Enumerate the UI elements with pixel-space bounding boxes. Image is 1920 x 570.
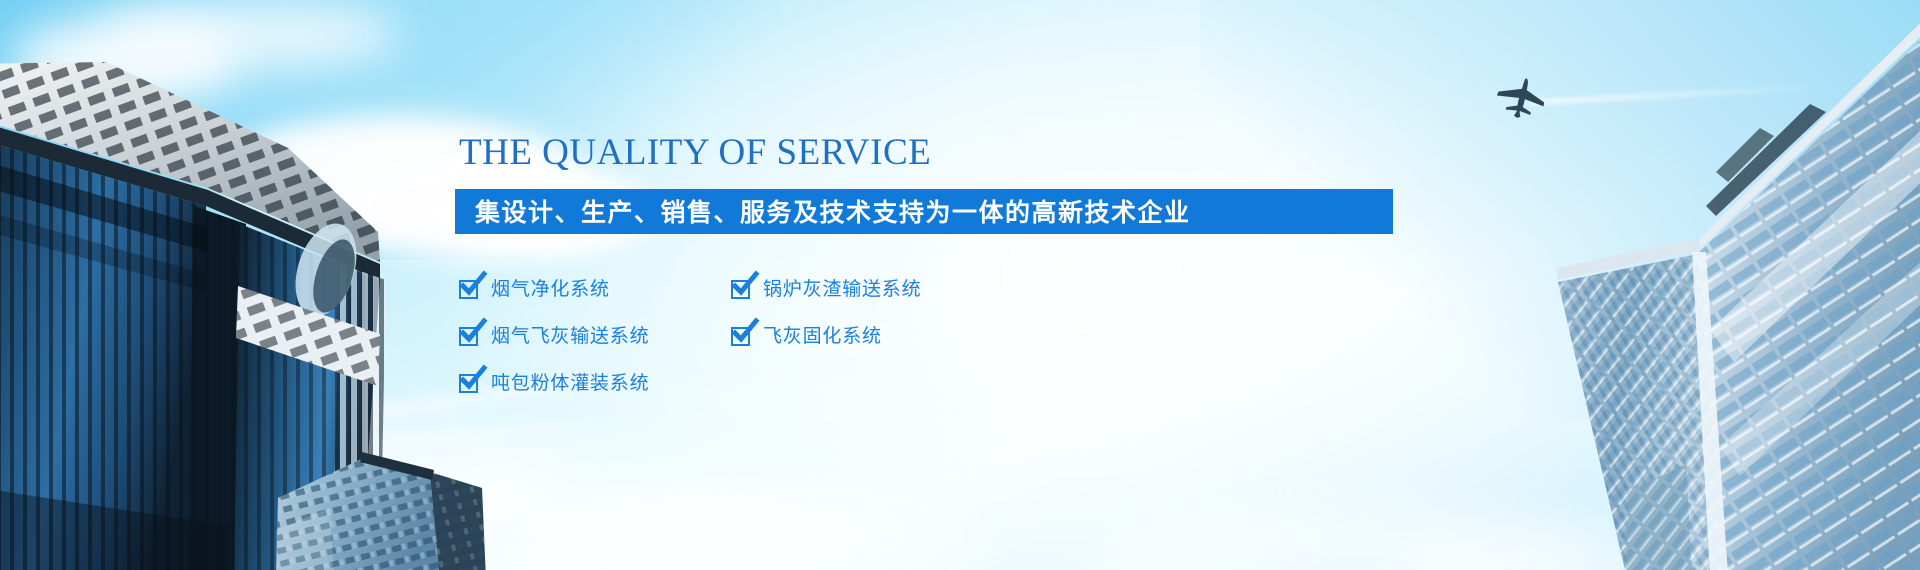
banner-content: THE QUALITY OF SERVICE 集设计、生产、销售、服务及技术支持…	[455, 132, 1415, 407]
feature-item[interactable]: 锅炉灰渣输送系统	[731, 266, 1003, 313]
feature-item[interactable]: 吨包粉体灌装系统	[459, 360, 731, 407]
feature-label: 锅炉灰渣输送系统	[763, 280, 921, 299]
feature-item[interactable]: 飞灰固化系统	[731, 313, 1003, 360]
checkbox-checked-icon	[459, 374, 478, 393]
hero-banner: THE QUALITY OF SERVICE 集设计、生产、销售、服务及技术支持…	[0, 0, 1920, 570]
right-building	[1510, 0, 1920, 570]
tagline-text: 集设计、生产、销售、服务及技术支持为一体的高新技术企业	[475, 193, 1191, 229]
feature-item[interactable]: 烟气飞灰输送系统	[459, 313, 731, 360]
checkbox-checked-icon	[731, 280, 750, 299]
checkbox-checked-icon	[731, 327, 750, 346]
checkbox-checked-icon	[459, 280, 478, 299]
feature-label: 飞灰固化系统	[763, 327, 882, 346]
feature-list: 烟气净化系统 锅炉灰渣输送系统 烟气飞灰输送系统 飞灰固化系统	[455, 266, 1415, 407]
checkbox-checked-icon	[459, 327, 478, 346]
feature-label: 吨包粉体灌装系统	[491, 374, 649, 393]
feature-label: 烟气净化系统	[491, 280, 610, 299]
feature-item[interactable]: 烟气净化系统	[459, 266, 731, 313]
left-building-secondary	[250, 380, 570, 570]
feature-label: 烟气飞灰输送系统	[491, 327, 649, 346]
page-title: THE QUALITY OF SERVICE	[455, 132, 1415, 175]
tagline-bar: 集设计、生产、销售、服务及技术支持为一体的高新技术企业	[455, 189, 1393, 234]
